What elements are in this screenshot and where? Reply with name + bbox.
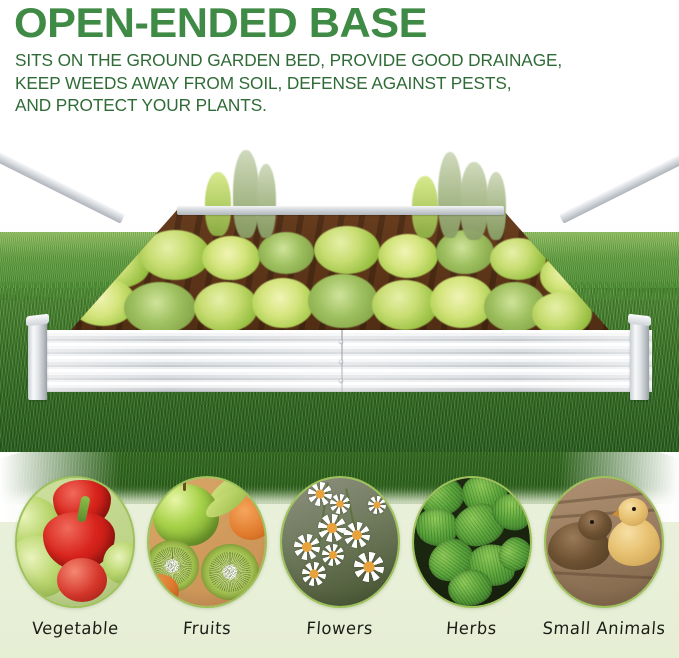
product-feature-image: OPEN-ENDED BASE SITS ON THE GROUND GARDE… — [0, 0, 679, 658]
category-panel: Vegetable Fruit — [0, 452, 679, 658]
tall-plant — [205, 172, 231, 236]
category-item-herbs: Herbs — [411, 476, 533, 639]
corner-post-right — [630, 322, 649, 400]
corner-post-cap — [26, 314, 49, 327]
category-item-flowers: Flowers — [279, 476, 401, 639]
plant-cluster — [202, 236, 260, 280]
plant-cluster — [314, 226, 380, 274]
category-list: Vegetable Fruit — [0, 476, 679, 639]
corrugated-metal-panel — [30, 330, 652, 392]
vegetable-artwork — [17, 478, 133, 606]
category-label-herbs: Herbs — [446, 619, 498, 639]
plant-cluster — [378, 234, 438, 278]
tall-plant — [256, 164, 276, 238]
category-label-small-animals: Small Animals — [542, 619, 666, 639]
subtitle-line-3: AND PROTECT YOUR PLANTS. — [15, 94, 655, 117]
category-label-vegetable: Vegetable — [31, 619, 119, 639]
plant-cluster — [194, 282, 258, 332]
plant-cluster — [372, 280, 438, 330]
bed-rim-back — [177, 206, 504, 215]
fruits-artwork — [149, 478, 265, 606]
page-title: OPEN-ENDED BASE — [14, 2, 427, 44]
tall-plant — [438, 152, 462, 238]
screw — [339, 340, 343, 344]
plant-cluster — [258, 232, 314, 274]
corner-post-left — [28, 322, 47, 400]
plant-cluster — [308, 274, 378, 328]
herbs-artwork — [414, 478, 530, 606]
category-item-fruits: Fruits — [146, 476, 268, 639]
product-photo — [0, 128, 679, 458]
plant-cluster — [252, 278, 314, 328]
header-text-block: OPEN-ENDED BASE SITS ON THE GROUND GARDE… — [0, 0, 679, 128]
vegetable-photo — [15, 476, 135, 608]
flowers-photo — [280, 476, 400, 608]
screw — [339, 379, 343, 383]
category-item-small-animals: Small Animals — [543, 476, 665, 639]
plant-cluster — [124, 282, 196, 334]
screw — [339, 360, 343, 364]
corner-post-cap — [628, 314, 651, 327]
category-item-vegetable: Vegetable — [14, 476, 136, 639]
flowers-artwork — [282, 478, 398, 606]
subtitle-line-2: KEEP WEEDS AWAY FROM SOIL, DEFENSE AGAIN… — [15, 72, 655, 95]
herbs-photo — [412, 476, 532, 608]
small-animals-photo — [544, 476, 664, 608]
subtitle-line-1: SITS ON THE GROUND GARDEN BED, PROVIDE G… — [15, 49, 655, 72]
subtitle-block: SITS ON THE GROUND GARDEN BED, PROVIDE G… — [15, 49, 655, 117]
category-label-fruits: Fruits — [182, 619, 232, 639]
small-animals-artwork — [546, 478, 662, 606]
category-label-flowers: Flowers — [306, 619, 374, 639]
tall-plant — [460, 162, 488, 240]
fruits-photo — [147, 476, 267, 608]
